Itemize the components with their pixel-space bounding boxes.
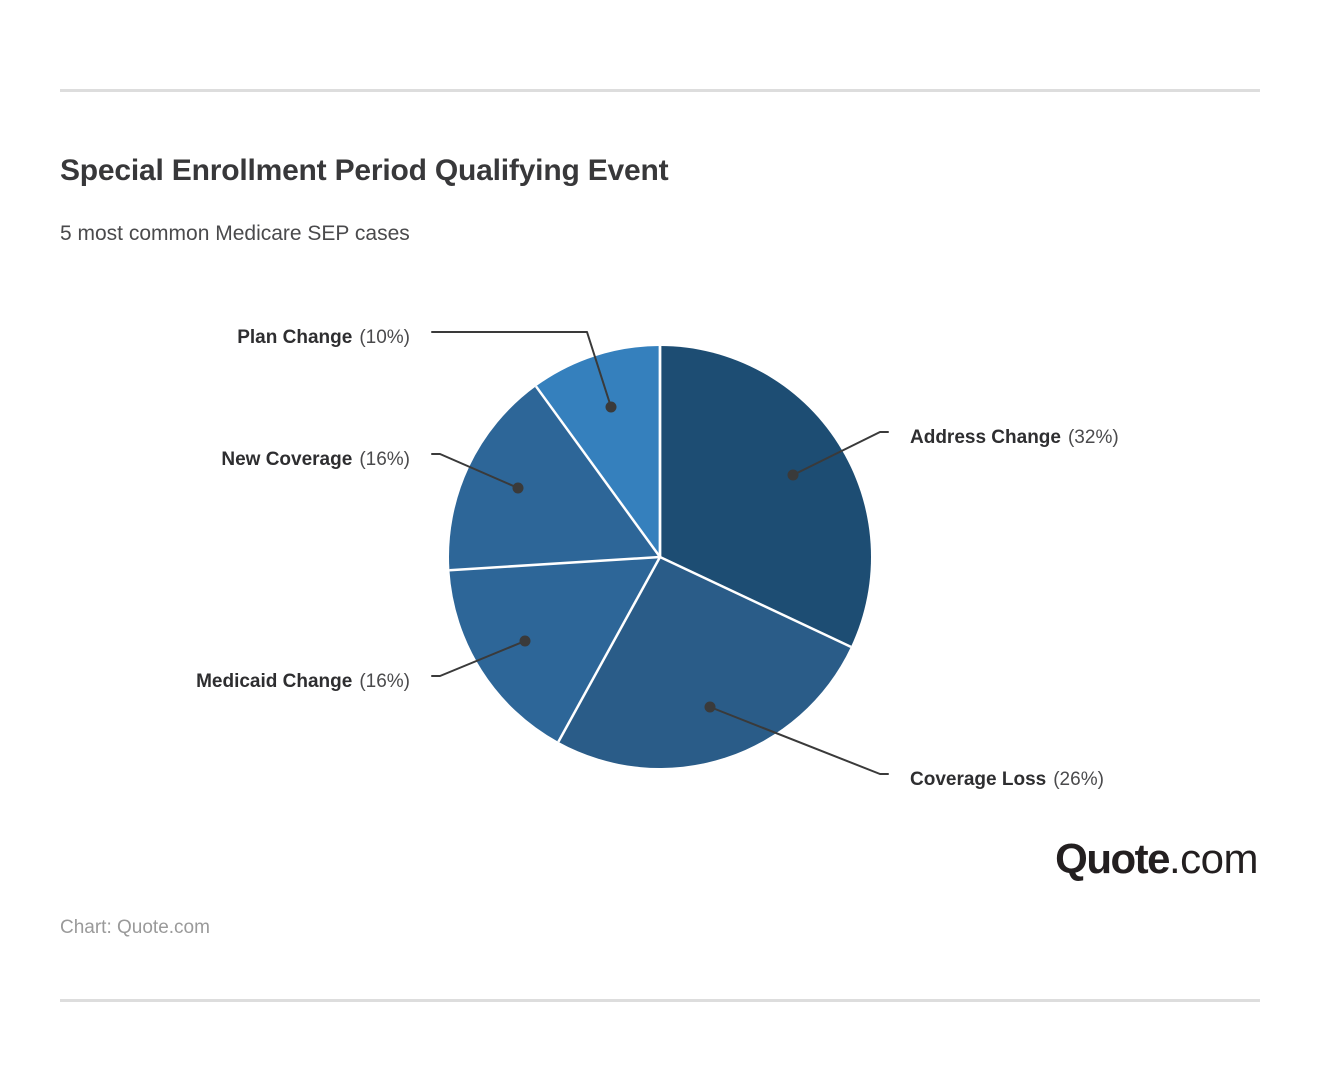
logo-wordmark: Quote [1055,835,1169,882]
pie-chart-plot: Address Change(32%)Coverage Loss(26%)Med… [0,270,1320,830]
pie-label-name: Medicaid Change [196,671,352,692]
leader-dot-address-change [788,470,799,481]
chart-title: Special Enrollment Period Qualifying Eve… [60,154,668,188]
pie-label-address-change: Address Change(32%) [910,427,1119,448]
pie-label-new-coverage: New Coverage(16%) [221,449,410,470]
quote-com-logo: Quote.com [1055,838,1258,880]
pie-label-percent: (16%) [359,449,410,470]
pie-label-percent: (32%) [1068,427,1119,448]
pie-label-plan-change: Plan Change(10%) [237,327,410,348]
pie-label-percent: (16%) [359,671,410,692]
pie-label-name: New Coverage [221,449,352,470]
leader-dot-medicaid-change [520,636,531,647]
chart-subtitle: 5 most common Medicare SEP cases [60,222,410,246]
pie-chart-svg: Address Change(32%)Coverage Loss(26%)Med… [0,270,1320,830]
pie-label-name: Plan Change [237,327,352,348]
leader-dot-new-coverage [513,483,524,494]
chart-credit: Chart: Quote.com [60,917,210,939]
pie-label-percent: (26%) [1053,769,1104,790]
chart-page: Special Enrollment Period Qualifying Eve… [0,0,1320,1086]
leader-dot-coverage-loss [705,702,716,713]
bottom-divider [60,999,1260,1002]
pie-label-name: Coverage Loss [910,769,1046,790]
top-divider [60,89,1260,92]
leader-dot-plan-change [606,402,617,413]
pie-label-medicaid-change: Medicaid Change(16%) [196,671,410,692]
logo-tld: .com [1169,835,1258,882]
pie-label-name: Address Change [910,427,1061,448]
pie-label-coverage-loss: Coverage Loss(26%) [910,769,1104,790]
pie-label-percent: (10%) [359,327,410,348]
